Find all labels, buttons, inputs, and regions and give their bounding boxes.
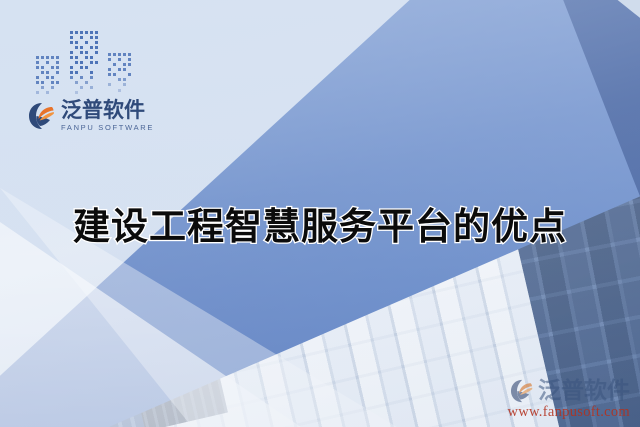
watermark-logo-row: 泛普软件 [507,379,630,403]
brand-name-cn: 泛普软件 [61,100,154,121]
logo-wordmark: 泛普软件 FANPU SOFTWARE [61,100,154,132]
dotted-skyline-icon [32,28,144,98]
promo-banner: 泛普软件 FANPU SOFTWARE 建设工程智慧服务平台的优点 泛普软件 w… [0,0,640,427]
brand-lockup: 泛普软件 FANPU SOFTWARE [28,28,158,132]
watermark: 泛普软件 www.fanpusoft.com [507,379,630,420]
watermark-brand-name: 泛普软件 [538,379,630,402]
brand-name-en: FANPU SOFTWARE [61,124,154,132]
watermark-url: www.fanpusoft.com [507,405,630,420]
headline-title: 建设工程智慧服务平台的优点 [0,196,640,250]
fanpu-swoosh-logo-icon [28,102,58,130]
fanpu-swoosh-logo-icon [510,379,536,403]
logo-row: 泛普软件 FANPU SOFTWARE [28,100,158,132]
